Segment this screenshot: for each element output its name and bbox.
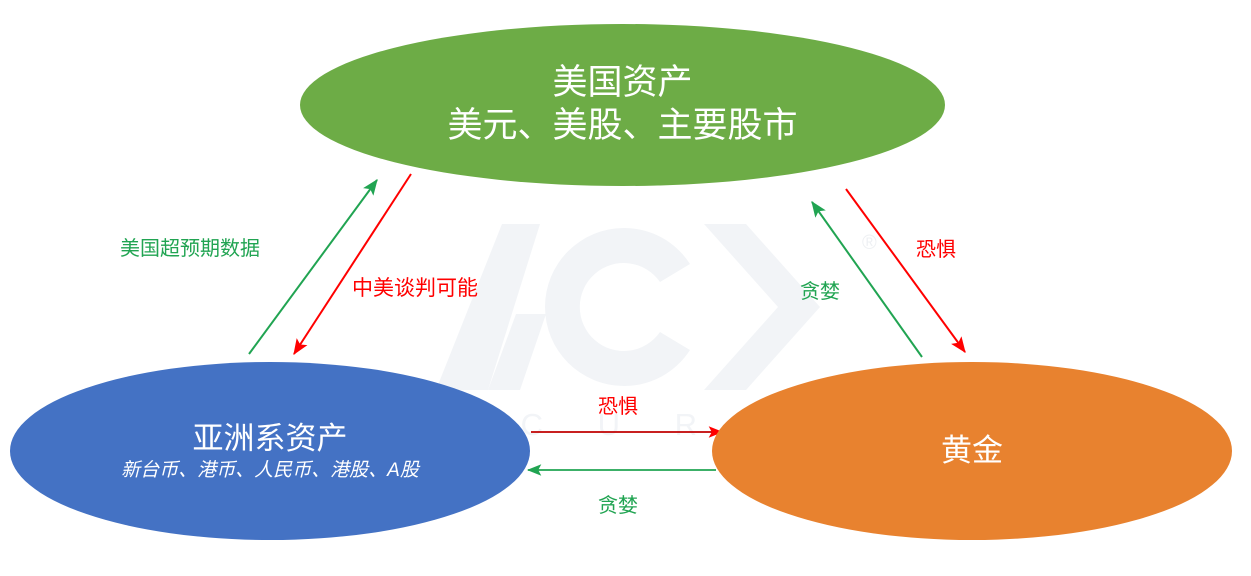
edge-label-us-surprise-data: 美国超预期数据 — [120, 232, 260, 261]
edge-label-greed-gold-to-us: 贪婪 — [800, 275, 840, 304]
node-asia-assets[interactable]: 亚洲系资产 新台币、港币、人民币、港股、A股 — [10, 362, 530, 540]
arrow-us-to-gold-red — [846, 189, 965, 352]
edge-label-greed-gold-to-asia: 贪婪 — [598, 489, 638, 518]
node-gold-title: 黄金 — [941, 432, 1003, 470]
arrow-asia-to-us-green — [249, 180, 377, 354]
node-asia-assets-subtitle: 新台币、港币、人民币、港股、A股 — [121, 459, 419, 482]
edge-label-fear-asia-to-gold: 恐惧 — [598, 390, 638, 419]
node-us-assets[interactable]: 美国资产 美元、美股、主要股市 — [300, 24, 945, 186]
node-gold[interactable]: 黄金 — [712, 362, 1232, 540]
node-us-assets-title: 美国资产 — [552, 62, 692, 105]
diagram-canvas: ® S E C U R I T I E S 美国超预期数据 中美谈判可能 贪婪 … — [0, 0, 1251, 576]
node-asia-assets-title: 亚洲系资产 — [193, 420, 348, 458]
arrow-us-to-asia-red — [294, 174, 411, 354]
edge-label-fear-us-to-gold: 恐惧 — [916, 233, 956, 262]
edge-label-china-us-negotiation: 中美谈判可能 — [352, 272, 478, 302]
acy-logo-watermark — [428, 222, 848, 392]
registered-trademark-icon: ® — [862, 232, 877, 255]
node-us-assets-subtitle: 美元、美股、主要股市 — [447, 105, 797, 148]
